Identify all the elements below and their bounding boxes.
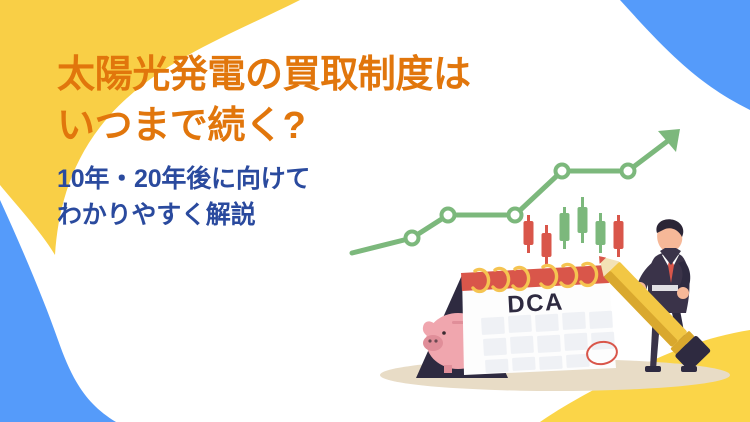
top-right-decor-shape (620, 0, 750, 110)
shoe-back (645, 366, 661, 372)
hand-far (677, 287, 689, 299)
trend-marker (442, 209, 455, 222)
trend-marker (406, 232, 419, 245)
candlestick-up (596, 213, 606, 253)
trend-marker (509, 209, 522, 222)
candlestick-down (524, 215, 534, 253)
trend-marker (556, 165, 569, 178)
candlestick-chart (524, 197, 624, 265)
headline-line-1: 太陽光発電の買取制度は (57, 50, 477, 101)
candlestick-down (614, 215, 624, 257)
trend-marker (622, 165, 635, 178)
illustration-svg: DCA (340, 125, 750, 410)
calendar: DCA (416, 263, 619, 378)
trend-line-chart (352, 129, 680, 253)
waist-band (652, 285, 678, 291)
candlestick-up (560, 207, 570, 249)
candlestick-up (578, 197, 588, 243)
candlestick-down (542, 225, 552, 265)
dca-investment-illustration: DCA (340, 125, 750, 410)
banner-canvas: 太陽光発電の買取制度は いつまで続く? 10年・20年後に向けて わかりやすく解… (0, 0, 750, 422)
trend-line-path (352, 137, 673, 253)
